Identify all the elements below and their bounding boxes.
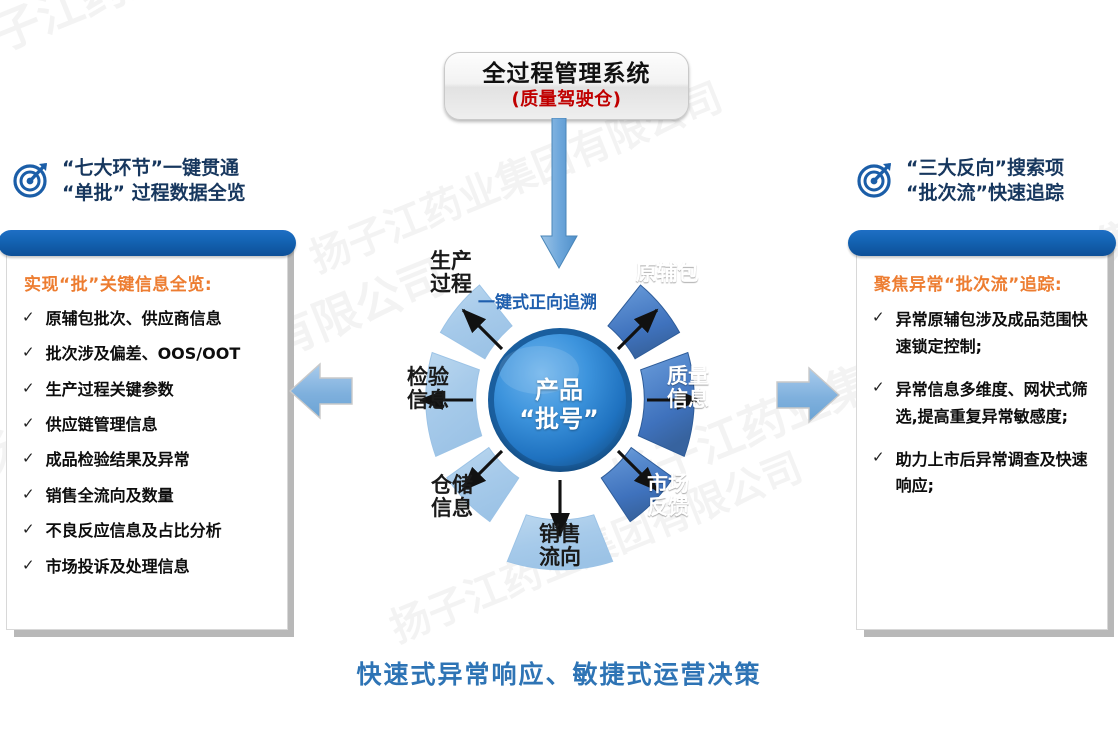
traceability-wheel: 生产过程 原辅包 质量信息 市场反馈 销售流向 仓储信息 检验信息 xyxy=(335,218,785,618)
segment-inspection-info xyxy=(424,351,482,457)
list-item-label: 异常信息多维度、网状式筛选,提高重复异常敏感度; xyxy=(896,377,1096,431)
check-icon: ✓ xyxy=(872,447,885,469)
list-item-label: 批次涉及偏差、OOS/OOT xyxy=(46,342,276,365)
list-item: ✓异常信息多维度、网状式筛选,提高重复异常敏感度; xyxy=(872,377,1096,431)
list-item-label: 助力上市后异常调查及快速响应; xyxy=(896,447,1096,501)
segment-warehouse-info xyxy=(445,446,521,524)
list-item: ✓异常原辅包涉及成品范围快速锁定控制; xyxy=(872,307,1096,361)
segment-market-feedback xyxy=(599,446,675,524)
panel-right-list: ✓异常原辅包涉及成品范围快速锁定控制; ✓异常信息多维度、网状式筛选,提高重复异… xyxy=(872,307,1096,500)
diagram-canvas: 扬子江药业集团有限公司 扬子江药业集团有限公司 扬子江药业集团有限公司 扬子江药… xyxy=(0,0,1118,749)
caption-left-line1: “七大环节”一键贯通 xyxy=(62,156,246,181)
check-icon: ✓ xyxy=(22,378,35,400)
check-icon: ✓ xyxy=(872,307,885,329)
watermark: 扬子江药业集团有限公司 xyxy=(0,0,434,81)
list-item: ✓原辅包批次、供应商信息 xyxy=(22,307,276,330)
check-icon: ✓ xyxy=(22,519,35,541)
check-icon: ✓ xyxy=(22,555,35,577)
check-icon: ✓ xyxy=(22,342,35,364)
list-item-label: 市场投诉及处理信息 xyxy=(46,555,276,578)
panel-left-heading: 实现“批”关键信息全览: xyxy=(24,270,276,295)
list-item: ✓销售全流向及数量 xyxy=(22,484,276,507)
list-item: ✓市场投诉及处理信息 xyxy=(22,555,276,578)
list-item-label: 不良反应信息及占比分析 xyxy=(46,519,276,542)
caption-left: “七大环节”一键贯通 “单批” 过程数据全览 xyxy=(12,156,246,207)
list-item: ✓批次涉及偏差、OOS/OOT xyxy=(22,342,276,365)
list-item: ✓生产过程关键参数 xyxy=(22,378,276,401)
caption-right: “三大反向”搜索项 “批次流”快速追踪 xyxy=(856,156,1064,207)
segment-quality-info xyxy=(638,351,696,457)
panel-right: 聚焦异常“批次流”追踪: ✓异常原辅包涉及成品范围快速锁定控制; ✓异常信息多维… xyxy=(856,240,1108,630)
panel-left-list: ✓原辅包批次、供应商信息 ✓批次涉及偏差、OOS/OOT ✓生产过程关键参数 ✓… xyxy=(22,307,276,578)
list-item: ✓助力上市后异常调查及快速响应; xyxy=(872,447,1096,501)
wheel-graphics xyxy=(335,218,785,618)
list-item: ✓不良反应信息及占比分析 xyxy=(22,519,276,542)
slogan: 快速式异常响应、敏捷式运营决策 xyxy=(0,655,1118,691)
caption-right-line2: “批次流”快速追踪 xyxy=(906,181,1064,206)
list-item: ✓成品检验结果及异常 xyxy=(22,448,276,471)
caption-right-line1: “三大反向”搜索项 xyxy=(906,156,1064,181)
trace-label: 一键式正向追溯 xyxy=(478,288,597,313)
system-title-box: 全过程管理系统 (质量驾驶仓) xyxy=(444,52,689,120)
caption-left-line2: “单批” 过程数据全览 xyxy=(62,181,246,206)
panel-left: 实现“批”关键信息全览: ✓原辅包批次、供应商信息 ✓批次涉及偏差、OOS/OO… xyxy=(6,240,288,630)
hub-highlight xyxy=(499,346,579,394)
check-icon: ✓ xyxy=(22,307,35,329)
target-arrow-icon xyxy=(856,159,896,203)
check-icon: ✓ xyxy=(22,413,35,435)
list-item-label: 供应链管理信息 xyxy=(46,413,276,436)
list-item: ✓供应链管理信息 xyxy=(22,413,276,436)
system-title: 全过程管理系统 xyxy=(483,62,651,88)
check-icon: ✓ xyxy=(872,377,885,399)
list-item-label: 原辅包批次、供应商信息 xyxy=(46,307,276,330)
list-item-label: 销售全流向及数量 xyxy=(46,484,276,507)
check-icon: ✓ xyxy=(22,484,35,506)
check-icon: ✓ xyxy=(22,448,35,470)
list-item-label: 生产过程关键参数 xyxy=(46,378,276,401)
target-arrow-icon xyxy=(12,159,52,203)
list-item-label: 成品检验结果及异常 xyxy=(46,448,276,471)
system-subtitle: (质量驾驶仓) xyxy=(512,89,622,110)
panel-right-heading: 聚焦异常“批次流”追踪: xyxy=(874,270,1096,295)
list-item-label: 异常原辅包涉及成品范围快速锁定控制; xyxy=(896,307,1096,361)
